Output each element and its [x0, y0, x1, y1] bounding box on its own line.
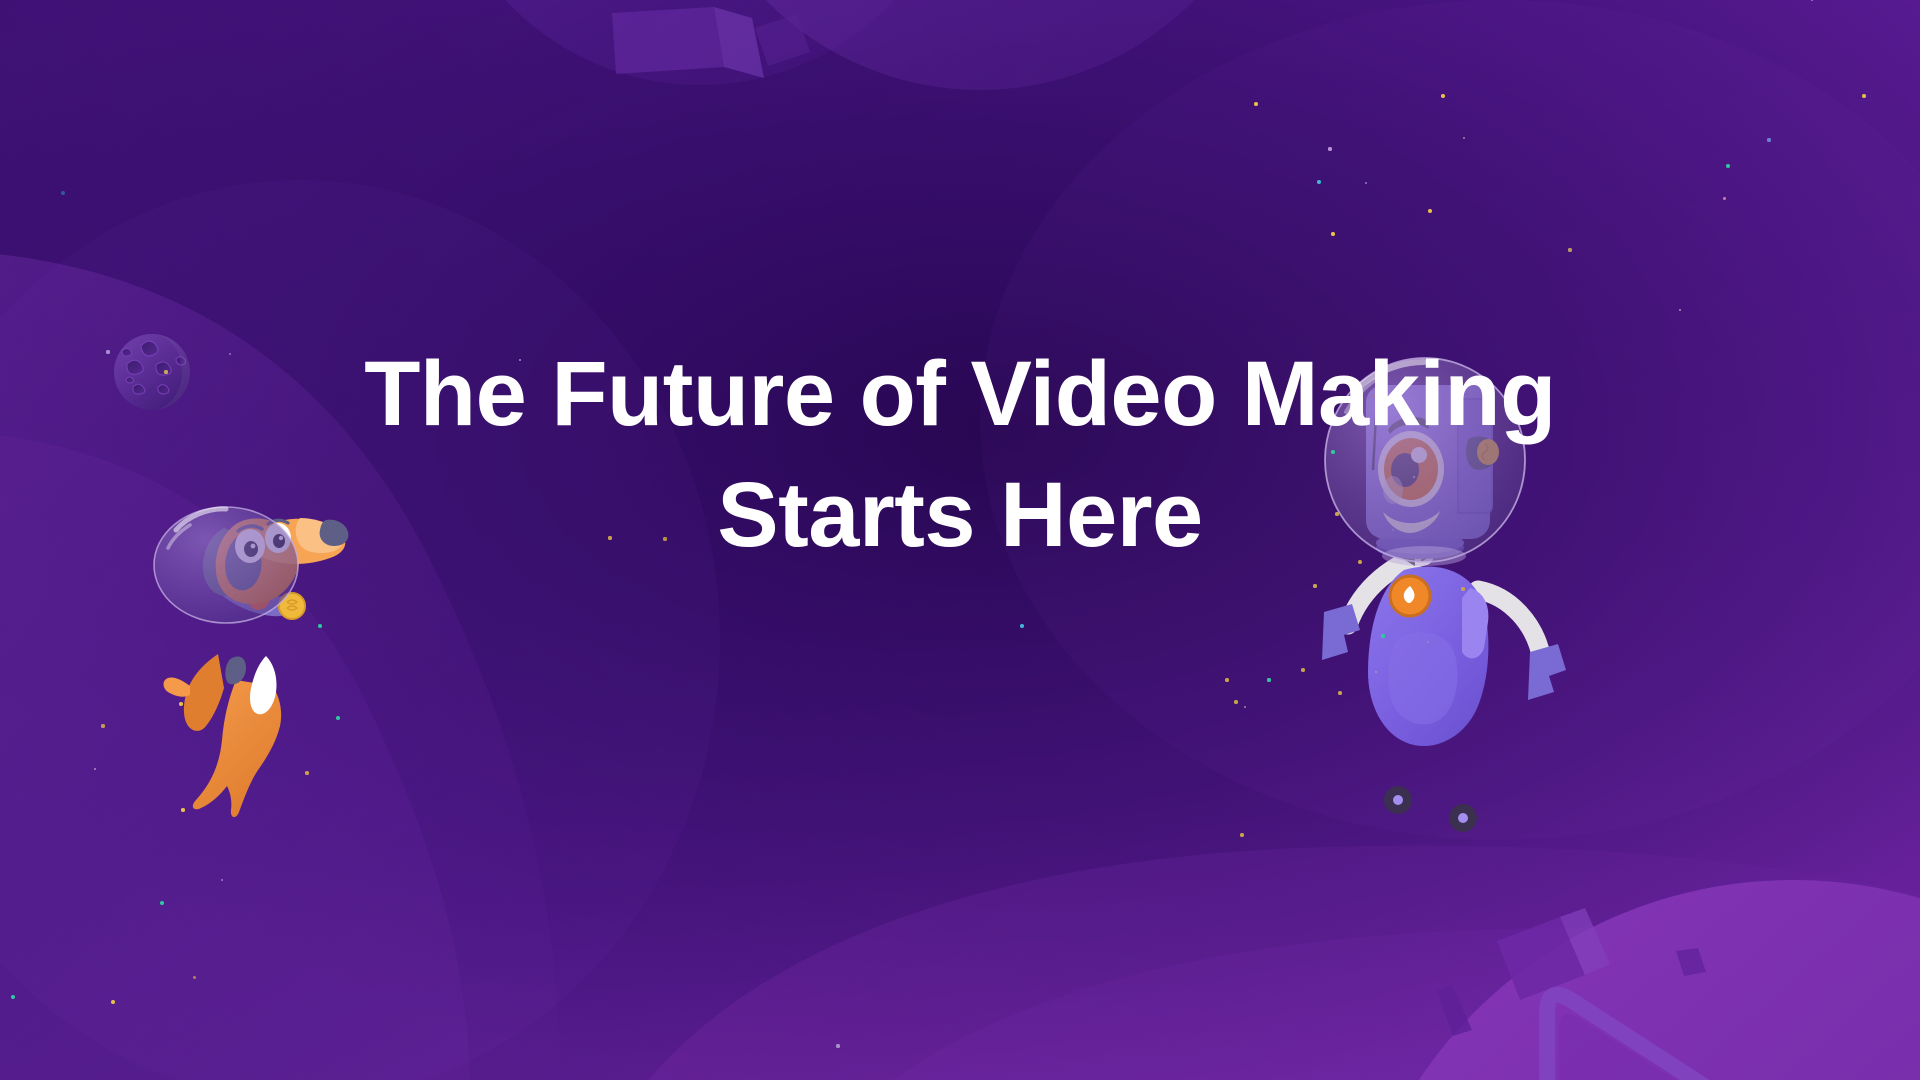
star [1428, 209, 1432, 213]
star [1020, 624, 1024, 628]
star [1723, 197, 1726, 200]
star [1328, 147, 1331, 150]
star [1461, 587, 1465, 591]
astronaut-robot [1322, 358, 1566, 832]
star [1234, 700, 1238, 704]
star [1381, 634, 1385, 638]
star [193, 976, 196, 979]
robot-hand-right [1528, 644, 1566, 700]
star [1338, 691, 1342, 695]
dog-helmet [154, 507, 298, 623]
star [1331, 450, 1335, 454]
star [179, 702, 183, 706]
star [11, 995, 15, 999]
star [305, 771, 309, 775]
star [1240, 833, 1244, 837]
star [1313, 584, 1316, 587]
star [1568, 248, 1571, 251]
star [1335, 512, 1339, 516]
star [1358, 560, 1362, 564]
characters-canvas [0, 0, 1920, 1080]
star [164, 370, 167, 373]
star [181, 808, 185, 812]
star [608, 536, 611, 539]
astronaut-dog [154, 507, 348, 817]
star [836, 1044, 839, 1047]
star [160, 901, 164, 905]
robot-helmet [1325, 358, 1525, 566]
star [101, 724, 104, 727]
star [1267, 678, 1270, 681]
hero-banner: The Future of Video Making Starts Here [0, 0, 1920, 1080]
star [663, 537, 666, 540]
star [1726, 164, 1730, 168]
robot-wheels [1384, 786, 1477, 832]
dog-body [164, 654, 282, 817]
star [61, 191, 65, 195]
star [1225, 678, 1229, 682]
star [106, 350, 109, 353]
star [1301, 668, 1305, 672]
star [1767, 138, 1770, 141]
star [1331, 232, 1335, 236]
